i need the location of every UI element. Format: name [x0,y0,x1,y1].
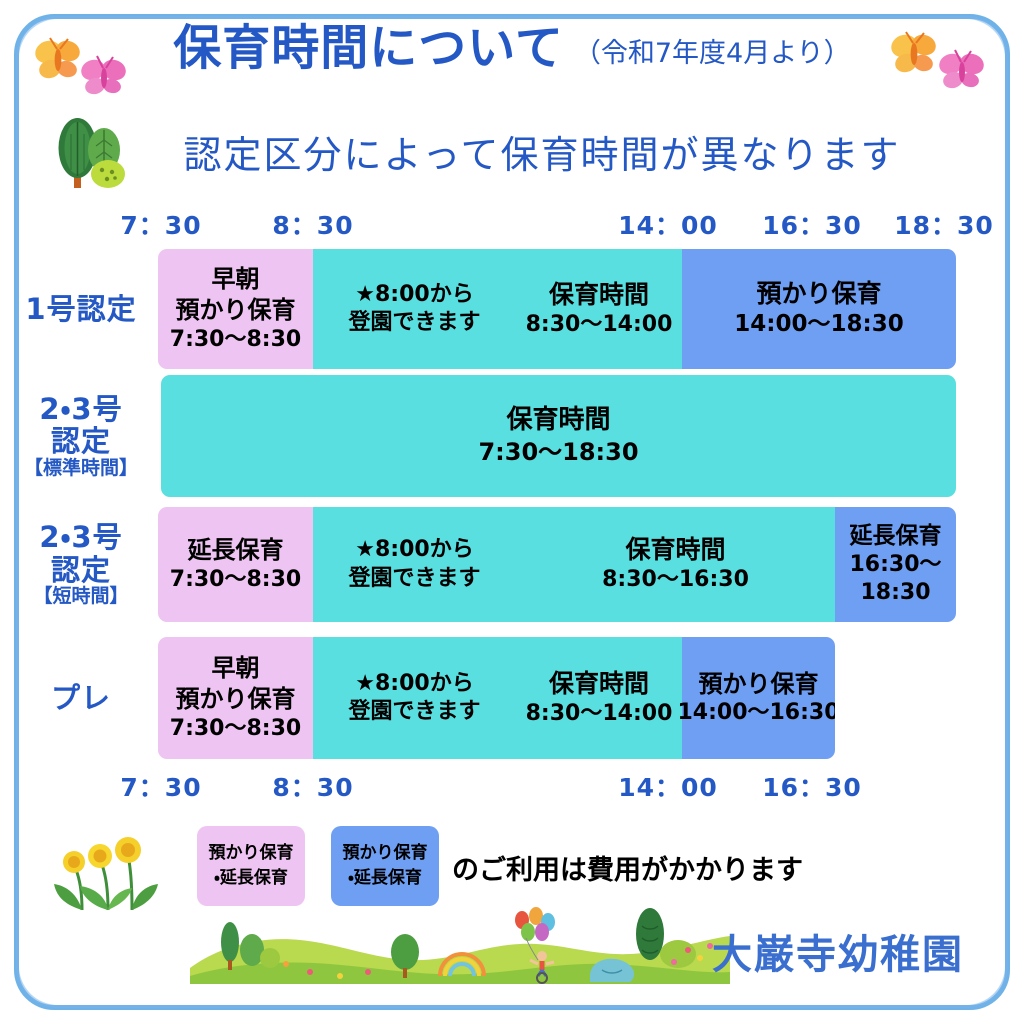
row-ichigo-core-care-hours-line-0: 保育時間 [549,279,649,311]
legend-pink-line-0: 預かり保育 [209,841,294,866]
row-nisan-standard-full-care-hours-line-1: 7:30〜18:30 [478,437,638,468]
row-pre-core-care-hours[interactable]: 保育時間8:30〜14:00 [516,637,682,759]
row-nisan-short-bar: 延長保育7:30〜8:30★8:00から登園できます保育時間8:30〜16:30… [158,507,956,622]
row-nisan-short-extended-care-evening[interactable]: 延長保育16:30〜18:30 [835,507,956,622]
row-nisan-short: 2・3号認定【短時間】延長保育7:30〜8:30★8:00から登園できます保育時… [0,507,1024,622]
row-nisan-standard-full-care-hours-line-0: 保育時間 [506,404,610,437]
row-nisan-short-arrival-note[interactable]: ★8:00から登園できます [313,507,516,622]
row-ichigo-arrival-note-line-0: ★8:00から [355,281,473,309]
row-nisan-short-extended-care-evening-line-1: 16:30〜 [849,551,941,579]
row-pre-label-line-0: プレ [51,682,111,714]
row-pre-early-morning-care-line-2: 7:30〜8:30 [170,715,301,743]
page-title: 保育時間について [173,24,564,72]
time-axis-bottom: 7：308：3014：0016：30 [0,768,1024,802]
row-ichigo-arrival-note-line-1: 登園できます [348,309,480,337]
row-pre-afternoon-care-line-0: 預かり保育 [699,669,819,700]
row-nisan-standard-full-care-hours[interactable]: 保育時間7:30〜18:30 [161,375,956,497]
row-nisan-short-core-care-hours-line-0: 保育時間 [625,534,725,566]
row-nisan-standard: 2・3号認定【標準時間】保育時間7:30〜18:30 [0,375,1024,497]
legend-blue-line-0: 預かり保育 [343,841,428,866]
row-ichigo-afternoon-care[interactable]: 預かり保育14:00〜18:30 [682,249,956,369]
row-nisan-short-extended-care-morning[interactable]: 延長保育7:30〜8:30 [158,507,313,622]
school-name: 大巌寺幼稚園 [712,922,964,980]
axis-top-tick-3: 16：30 [762,206,862,242]
row-pre-early-morning-care-line-1: 預かり保育 [176,684,296,715]
axis-bottom-tick-0: 7：30 [120,768,201,804]
row-pre-afternoon-care-line-1: 14:00〜16:30 [677,699,835,727]
row-ichigo-bar: 早朝預かり保育7:30〜8:30★8:00から登園できます保育時間8:30〜14… [158,249,956,369]
row-ichigo-label: 1号認定 [8,249,154,369]
axis-top-tick-2: 14：00 [618,206,718,242]
legend: のご利用は費用がかかります 預かり保育・延長保育預かり保育・延長保育 [0,826,1024,912]
title-row: 保育時間について （令和7年度4月より） [0,24,1024,72]
row-nisan-short-label-line-1: 認定 [51,554,111,586]
row-nisan-short-core-care-hours-line-1: 8:30〜16:30 [602,566,749,594]
row-nisan-standard-label-line-1: 認定 [51,425,111,457]
lead-text: 認定区分によって保育時間が異なります [124,124,901,179]
row-pre-core-care-hours-line-0: 保育時間 [549,668,649,700]
row-ichigo-early-morning-care-line-0: 早朝 [212,264,260,295]
row-pre-core-care-hours-line-1: 8:30〜14:00 [526,700,673,728]
row-ichigo-afternoon-care-line-0: 預かり保育 [756,278,881,310]
row-nisan-standard-bar: 保育時間7:30〜18:30 [161,375,956,497]
page-subtitle: （令和7年度4月より） [574,40,851,72]
axis-top-tick-0: 7：30 [120,206,201,242]
row-nisan-standard-label-note: 【標準時間】 [24,458,138,479]
row-ichigo-early-morning-care-line-2: 7:30〜8:30 [170,326,301,354]
legend-blue-line-1: ・延長保育 [348,866,422,891]
row-nisan-short-extended-care-evening-line-0: 延長保育 [850,522,942,551]
row-ichigo-core-care-hours-line-1: 8:30〜14:00 [526,311,673,339]
legend-blue: 預かり保育・延長保育 [331,826,439,906]
time-axis-top: 7：308：3014：0016：3018：30 [0,206,1024,240]
row-ichigo-afternoon-care-line-1: 14:00〜18:30 [734,310,903,339]
row-ichigo-label-line-0: 1号認定 [25,293,136,325]
row-nisan-standard-label-line-0: 2・3号 [39,393,122,425]
row-nisan-standard-label: 2・3号認定【標準時間】 [8,375,154,497]
row-nisan-short-label-line-0: 2・3号 [39,521,122,553]
legend-pink: 預かり保育・延長保育 [197,826,305,906]
axis-bottom-tick-3: 16：30 [762,768,862,804]
row-nisan-short-core-care-hours[interactable]: 保育時間8:30〜16:30 [516,507,835,622]
row-nisan-short-label-note: 【短時間】 [33,586,128,607]
axis-top-tick-4: 18：30 [894,206,994,242]
axis-bottom-tick-2: 14：00 [618,768,718,804]
row-pre-arrival-note[interactable]: ★8:00から登園できます [313,637,516,759]
row-pre-afternoon-care[interactable]: 預かり保育14:00〜16:30 [682,637,835,759]
row-nisan-short-extended-care-evening-line-2: 18:30 [860,579,930,607]
row-nisan-short-extended-care-morning-line-0: 延長保育 [188,535,284,566]
row-ichigo-early-morning-care-line-1: 預かり保育 [176,295,296,326]
row-nisan-short-arrival-note-line-0: ★8:00から [355,536,473,564]
row-nisan-short-label: 2・3号認定【短時間】 [8,507,154,622]
row-pre-arrival-note-line-1: 登園できます [348,698,480,726]
legend-pink-line-1: ・延長保育 [214,866,288,891]
row-pre: プレ早朝預かり保育7:30〜8:30★8:00から登園できます保育時間8:30〜… [0,637,1024,759]
axis-bottom-tick-1: 8：30 [272,768,353,804]
row-pre-early-morning-care-line-0: 早朝 [212,653,260,684]
row-nisan-short-arrival-note-line-1: 登園できます [348,565,480,593]
row-pre-arrival-note-line-0: ★8:00から [355,670,473,698]
row-ichigo-early-morning-care[interactable]: 早朝預かり保育7:30〜8:30 [158,249,313,369]
row-pre-early-morning-care[interactable]: 早朝預かり保育7:30〜8:30 [158,637,313,759]
row-ichigo-core-care-hours[interactable]: 保育時間8:30〜14:00 [516,249,682,369]
row-pre-label: プレ [8,637,154,759]
row-ichigo: 1号認定早朝預かり保育7:30〜8:30★8:00から登園できます保育時間8:3… [0,249,1024,369]
row-nisan-short-extended-care-morning-line-1: 7:30〜8:30 [170,566,301,594]
lead-line: 認定区分によって保育時間が異なります [0,124,1024,179]
axis-top-tick-1: 8：30 [272,206,353,242]
legend-note: のご利用は費用がかかります [452,848,803,887]
row-ichigo-arrival-note[interactable]: ★8:00から登園できます [313,249,516,369]
row-pre-bar: 早朝預かり保育7:30〜8:30★8:00から登園できます保育時間8:30〜14… [158,637,835,759]
